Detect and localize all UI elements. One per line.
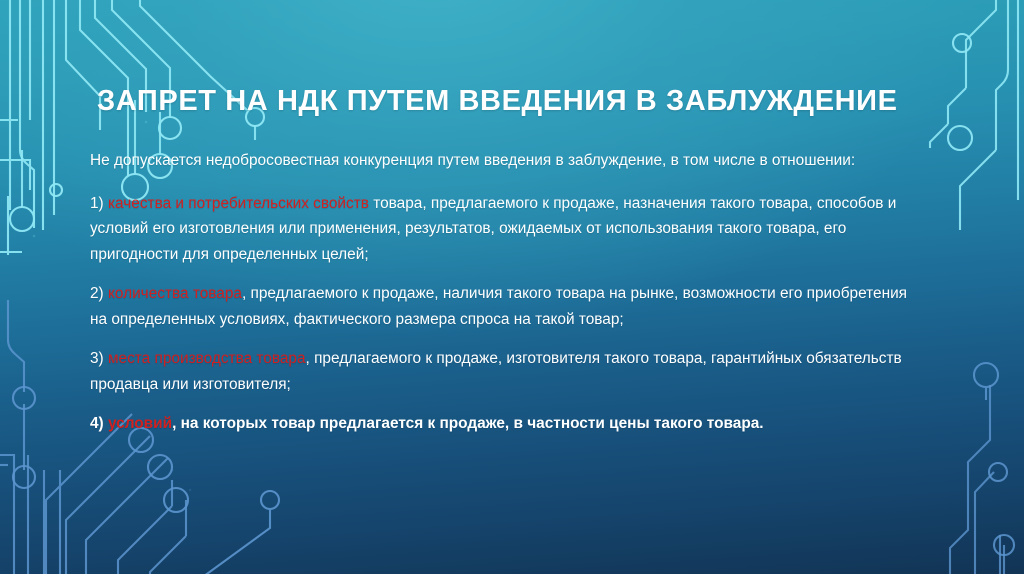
list-item: 1) качества и потребительских свойств то… — [90, 191, 928, 268]
list-item-marker: 4) — [90, 415, 104, 432]
list-item-highlight: места производства товара — [108, 350, 306, 367]
list-item-marker: 3) — [90, 350, 104, 367]
list-item-marker: 1) — [90, 195, 104, 212]
intro-paragraph: Не допускается недобросовестная конкурен… — [90, 148, 928, 174]
list-item-highlight: качества и потребительских свойств — [108, 195, 369, 212]
list-item: 3) места производства товара, предлагаем… — [90, 346, 928, 397]
list-item-highlight: количества товара — [108, 285, 242, 302]
list-item: 4) условий, на которых товар предлагаетс… — [90, 411, 928, 437]
list-item-highlight: условий — [108, 415, 172, 432]
list-item-marker: 2) — [90, 285, 104, 302]
page-title: ЗАПРЕТ НА НДК ПУТЕМ ВВЕДЕНИЯ В ЗАБЛУЖДЕН… — [97, 85, 927, 118]
list-item-text: , на которых товар предлагается к продаж… — [172, 415, 763, 432]
list-item: 2) количества товара, предлагаемого к пр… — [90, 281, 928, 332]
slide-body: Не допускается недобросовестная конкурен… — [90, 148, 928, 437]
slide-canvas: ЗАПРЕТ НА НДК ПУТЕМ ВВЕДЕНИЯ В ЗАБЛУЖДЕН… — [0, 0, 1024, 574]
